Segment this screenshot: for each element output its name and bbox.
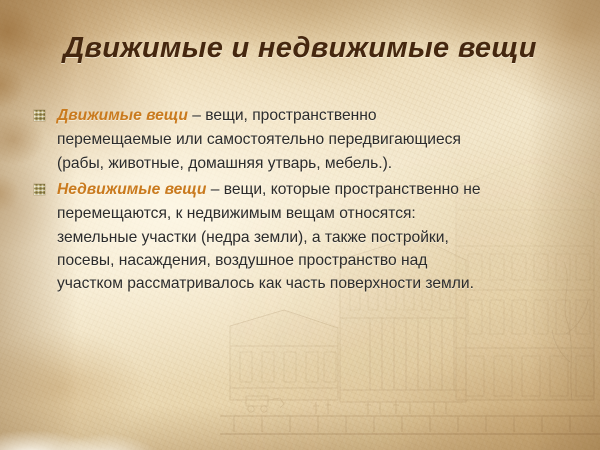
term-dash: –: [206, 181, 223, 198]
definition-first-line: Недвижимые вещи – вещи, которые простран…: [57, 178, 573, 202]
definition-line: перемещаемые или самостоятельно передвиг…: [57, 128, 573, 152]
textured-square-bullet-icon: [34, 184, 45, 195]
slide-canvas: Движимые и недвижимые вещи Движимые вещи…: [0, 0, 600, 450]
definition-first-line: Движимые вещи – вещи, пространственно: [57, 104, 573, 128]
term-dash: –: [188, 107, 205, 124]
slide-body: Движимые вещи – вещи, пространственно пе…: [33, 104, 573, 297]
definition-text-part: вещи, которые пространственно не: [224, 181, 481, 198]
definition-line: посевы, насаждения, воздушное пространст…: [57, 249, 573, 272]
slide-title: Движимые и недвижимые вещи: [0, 32, 600, 65]
definition-line: участком рассматривалось как часть повер…: [57, 272, 573, 295]
term-immovable-things: Недвижимые вещи: [57, 181, 206, 198]
textured-square-bullet-icon: [34, 110, 45, 121]
definition-line: перемещаются, к недвижимым вещам относят…: [57, 202, 573, 226]
definition-block-movable: Движимые вещи – вещи, пространственно пе…: [33, 104, 573, 176]
definition-block-immovable: Недвижимые вещи – вещи, которые простран…: [33, 178, 573, 295]
definition-text-part: вещи, пространственно: [205, 107, 376, 124]
definition-line: (рабы, животные, домашняя утварь, мебель…: [57, 152, 573, 176]
torn-paper-bottom-edge: [0, 424, 170, 450]
definition-line: земельные участки (недра земли), а также…: [57, 226, 573, 249]
term-movable-things: Движимые вещи: [57, 107, 188, 124]
